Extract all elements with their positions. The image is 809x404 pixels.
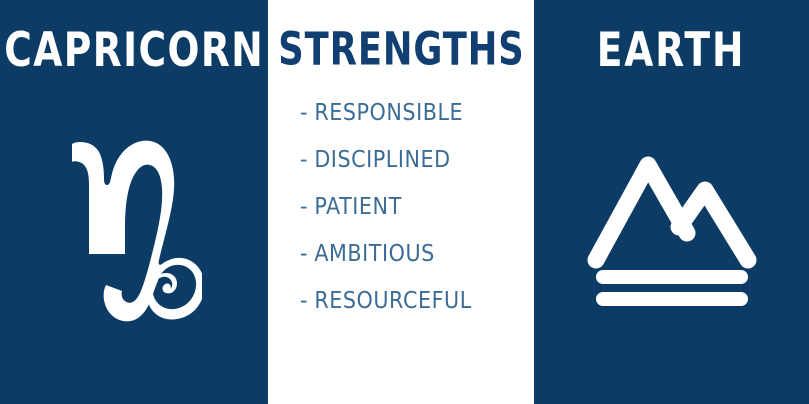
zodiac-info-card: CAPRICORN STRENGTHS -RESPONSIBLE -DISCIP… [0,0,809,404]
list-item: -DISCIPLINED [300,137,511,184]
strengths-title: STRENGTHS [278,26,524,72]
panel-capricorn: CAPRICORN [0,0,268,404]
list-item-label: RESOURCEFUL [314,288,471,314]
panel-strengths: STRENGTHS -RESPONSIBLE -DISCIPLINED -PAT… [268,0,534,404]
mountain-ground-bar-top [596,270,748,284]
list-item: -RESOURCEFUL [300,278,511,325]
list-item: -RESPONSIBLE [300,90,511,137]
list-item-label: RESPONSIBLE [314,100,463,126]
earth-title: EARTH [597,27,746,74]
capricorn-title: CAPRICORN [4,27,264,74]
list-item-label: PATIENT [314,194,401,220]
mountain-right-peak [679,190,748,260]
bullet-dash: - [300,147,308,173]
bullet-dash: - [300,288,308,314]
strengths-list: -RESPONSIBLE -DISCIPLINED -PATIENT -AMBI… [268,90,534,325]
bullet-dash: - [300,194,308,220]
list-item-label: DISCIPLINED [314,147,450,173]
bullet-dash: - [300,100,308,126]
mountain-left-peak [596,165,687,260]
panel-earth: EARTH [534,0,809,404]
list-item: -PATIENT [300,184,511,231]
mountain-ground-bar-bottom [596,292,748,306]
bullet-dash: - [300,241,308,267]
mountain-icon [586,152,758,306]
capricorn-zodiac-glyph [66,136,202,322]
list-item-label: AMBITIOUS [314,241,435,267]
earth-icon-container [534,67,809,404]
list-item: -AMBITIOUS [300,231,511,278]
capricorn-glyph-container [0,67,268,404]
